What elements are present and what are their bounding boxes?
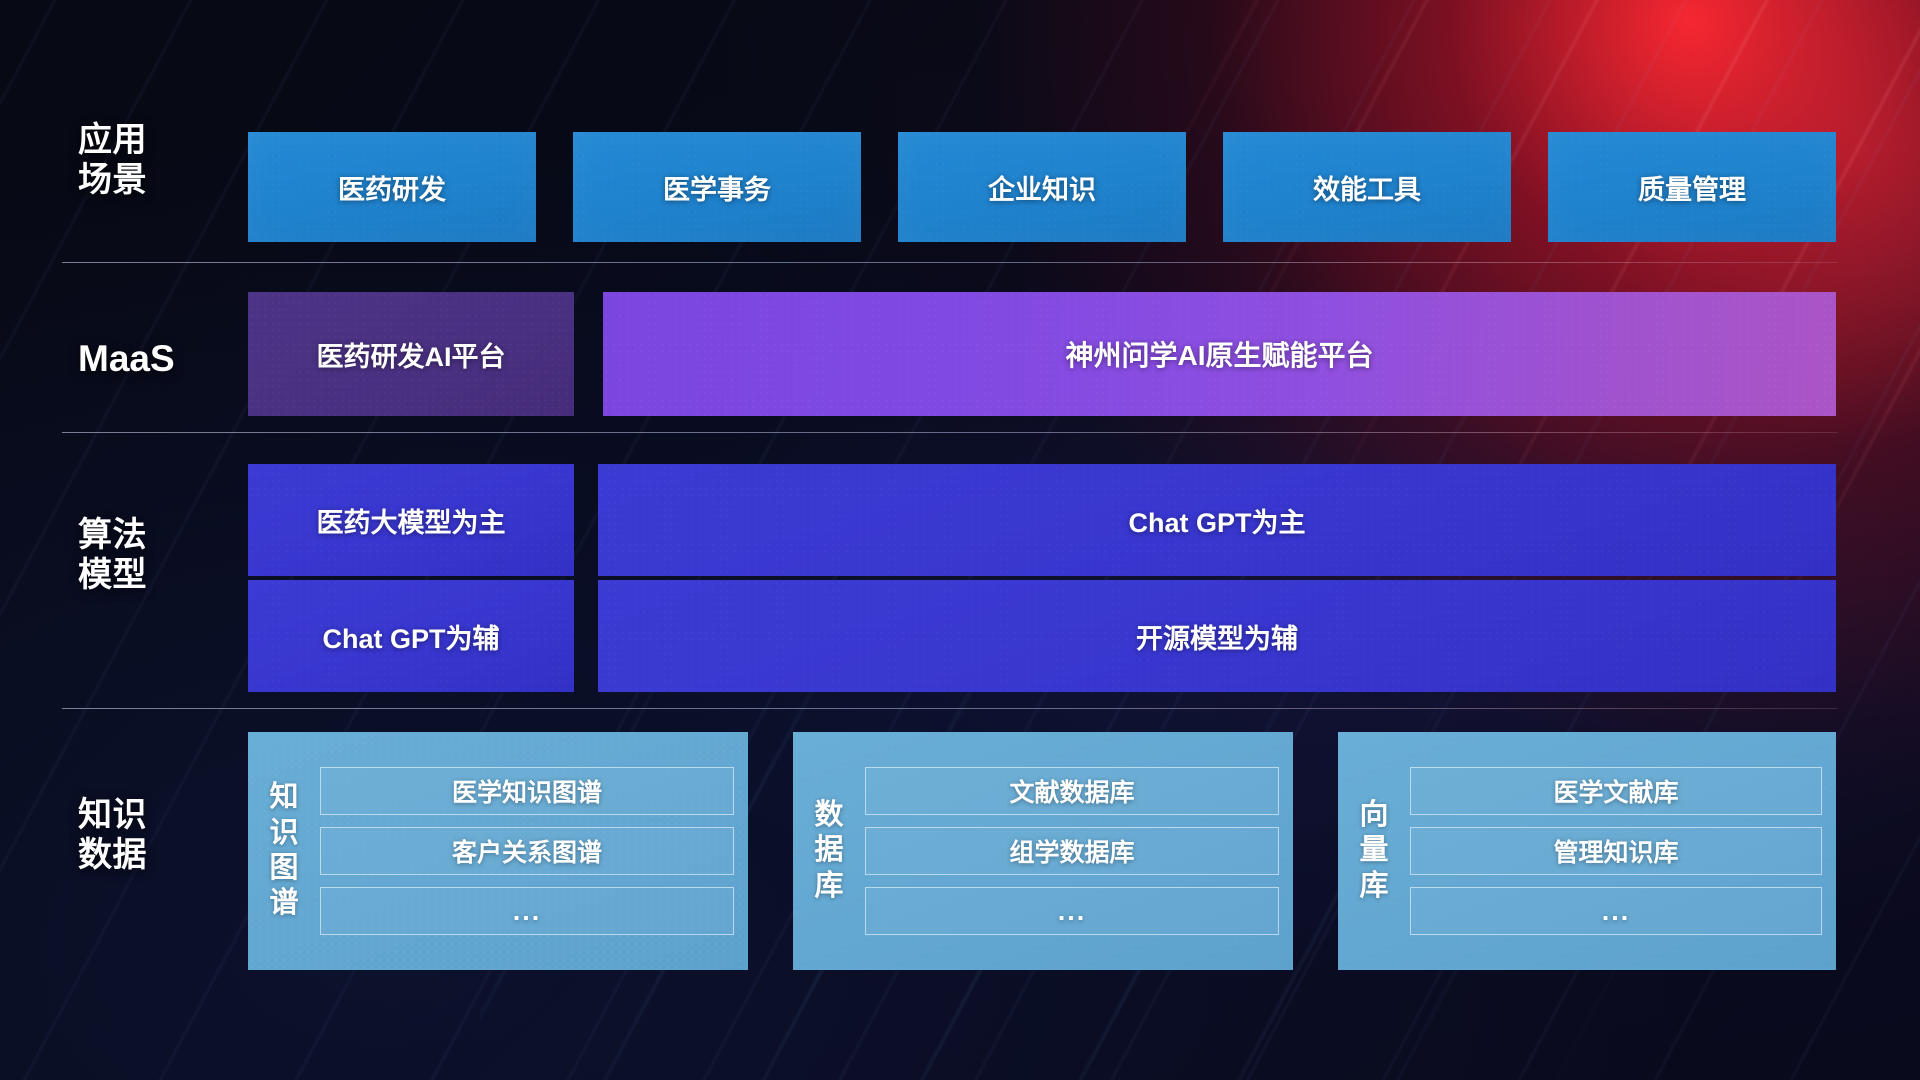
algo-box-secondary-left[interactable]: Chat GPT为辅 bbox=[248, 580, 574, 692]
knowledge-chip-vector-1[interactable]: 管理知识库 bbox=[1410, 827, 1822, 875]
divider-application-maas bbox=[62, 262, 1838, 263]
knowledge-chip-database-0[interactable]: 文献数据库 bbox=[865, 767, 1279, 815]
algo-box-primary-left-label: 医药大模型为主 bbox=[317, 501, 506, 540]
knowledge-chip-vector-2[interactable]: ... bbox=[1410, 887, 1822, 935]
knowledge-chip-graph-2[interactable]: ... bbox=[320, 887, 734, 935]
row-label-knowledge-line2: 数据 bbox=[78, 835, 198, 875]
app-box-2[interactable]: 企业知识 bbox=[898, 132, 1186, 242]
app-box-1-label: 医学事务 bbox=[663, 168, 771, 207]
row-label-maas-text: MaaS bbox=[78, 337, 198, 381]
row-label-application-line2: 场景 bbox=[78, 160, 198, 200]
divider-maas-algorithm bbox=[62, 432, 1838, 433]
app-box-4-label: 质量管理 bbox=[1638, 168, 1746, 207]
algo-box-secondary-right[interactable]: 开源模型为辅 bbox=[598, 580, 1836, 692]
maas-box-pharma-platform[interactable]: 医药研发AI平台 bbox=[248, 292, 574, 416]
maas-box-shenzhou-platform[interactable]: 神州问学AI原生赋能平台 bbox=[603, 292, 1836, 416]
app-box-4[interactable]: 质量管理 bbox=[1548, 132, 1836, 242]
knowledge-panel-graph-items: 医学知识图谱 客户关系图谱 ... bbox=[320, 767, 734, 935]
knowledge-chip-database-2[interactable]: ... bbox=[865, 887, 1279, 935]
row-label-knowledge: 知识 数据 bbox=[78, 795, 198, 875]
divider-algorithm-knowledge bbox=[62, 708, 1838, 709]
row-label-algorithm: 算法 模型 bbox=[78, 515, 198, 595]
knowledge-panel-graph-label: 知识图谱 bbox=[258, 780, 310, 922]
knowledge-chip-graph-1[interactable]: 客户关系图谱 bbox=[320, 827, 734, 875]
app-box-0[interactable]: 医药研发 bbox=[248, 132, 536, 242]
knowledge-chip-database-1[interactable]: 组学数据库 bbox=[865, 827, 1279, 875]
knowledge-panel-database[interactable]: 数据库 文献数据库 组学数据库 ... bbox=[793, 732, 1293, 970]
row-label-algorithm-line2: 模型 bbox=[78, 555, 198, 595]
algo-box-secondary-left-label: Chat GPT为辅 bbox=[322, 617, 499, 656]
maas-box-pharma-platform-label: 医药研发AI平台 bbox=[317, 335, 506, 374]
row-label-knowledge-line1: 知识 bbox=[78, 795, 198, 835]
row-label-maas: MaaS bbox=[78, 337, 198, 381]
maas-box-shenzhou-platform-label: 神州问学AI原生赋能平台 bbox=[1065, 334, 1373, 374]
knowledge-panel-vector[interactable]: 向量库 医学文献库 管理知识库 ... bbox=[1338, 732, 1836, 970]
knowledge-panel-vector-items: 医学文献库 管理知识库 ... bbox=[1410, 767, 1822, 935]
algo-box-primary-left[interactable]: 医药大模型为主 bbox=[248, 464, 574, 576]
app-box-2-label: 企业知识 bbox=[988, 168, 1096, 207]
app-box-3-label: 效能工具 bbox=[1313, 168, 1421, 207]
row-label-algorithm-line1: 算法 bbox=[78, 515, 198, 555]
app-box-1[interactable]: 医学事务 bbox=[573, 132, 861, 242]
knowledge-chip-graph-0[interactable]: 医学知识图谱 bbox=[320, 767, 734, 815]
slide-canvas: 应用 场景 医药研发 医学事务 企业知识 效能工具 质量管理 MaaS 医药研发… bbox=[0, 0, 1920, 1080]
knowledge-panel-vector-label: 向量库 bbox=[1348, 798, 1400, 904]
app-box-3[interactable]: 效能工具 bbox=[1223, 132, 1511, 242]
algo-box-primary-right[interactable]: Chat GPT为主 bbox=[598, 464, 1836, 576]
algo-box-secondary-right-label: 开源模型为辅 bbox=[1136, 617, 1298, 656]
algo-box-primary-right-label: Chat GPT为主 bbox=[1128, 501, 1305, 540]
knowledge-chip-vector-0[interactable]: 医学文献库 bbox=[1410, 767, 1822, 815]
app-box-0-label: 医药研发 bbox=[338, 168, 446, 207]
knowledge-panel-database-label: 数据库 bbox=[803, 798, 855, 904]
row-label-application-line1: 应用 bbox=[78, 120, 198, 160]
row-label-application: 应用 场景 bbox=[78, 120, 198, 200]
knowledge-panel-graph[interactable]: 知识图谱 医学知识图谱 客户关系图谱 ... bbox=[248, 732, 748, 970]
knowledge-panel-database-items: 文献数据库 组学数据库 ... bbox=[865, 767, 1279, 935]
